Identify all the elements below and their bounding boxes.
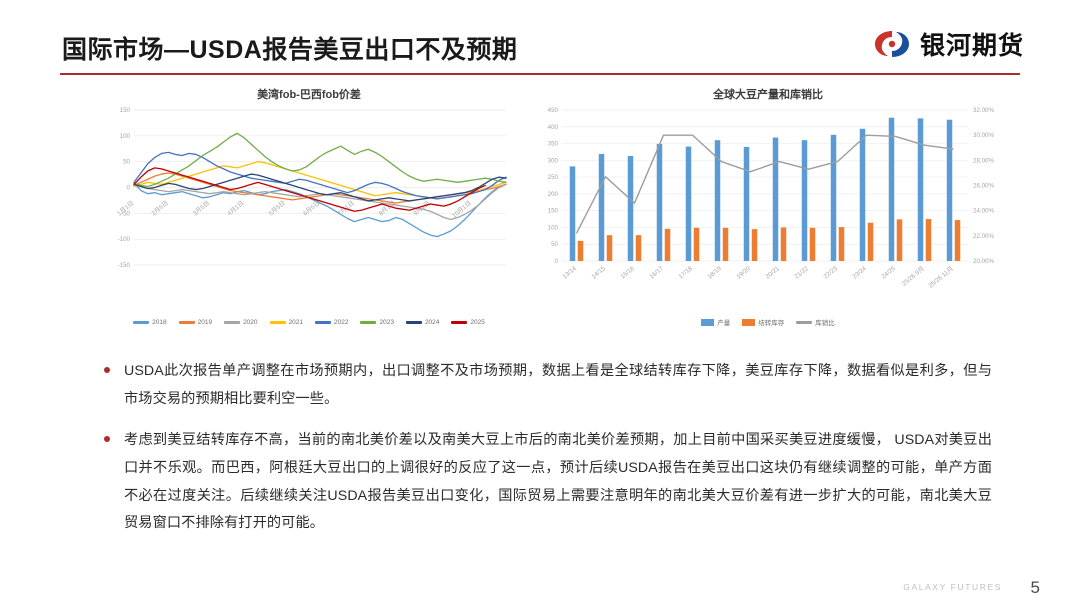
- bullet-item: 考虑到美豆结转库存不高，当前的南北美价差以及南美大豆上市后的南北美价差预期，加上…: [104, 427, 992, 538]
- bar-结转库存-24/25: [897, 219, 903, 261]
- legend-swatch: [742, 319, 755, 326]
- bar-产量-21/22: [802, 140, 808, 261]
- bar-结转库存-22/23: [839, 227, 845, 261]
- legend-item-结转库存: 结转库存: [742, 317, 784, 327]
- legend-label: 2022: [334, 319, 348, 326]
- legend-swatch: [270, 321, 286, 324]
- legend-label: 产量: [717, 317, 730, 327]
- legend-item-2021: 2021: [270, 319, 303, 326]
- slide: 国际市场—USDA报告美豆出口不及预期 银河期货 美湾fob-巴西fob价差 1…: [0, 0, 1080, 608]
- bar-产量-23/24: [860, 129, 866, 261]
- y2-axis-tick-label: 28.00%: [973, 157, 994, 164]
- chart-left-legend: 20182019202020212022202320242025: [104, 313, 514, 331]
- x-axis-tick-label: 13/14: [561, 265, 578, 281]
- legend-item-2024: 2024: [406, 319, 439, 326]
- legend-swatch: [179, 321, 195, 324]
- chart-price-spread: 美湾fob-巴西fob价差 150100500-50-100-1501月1日2月…: [104, 86, 514, 351]
- legend-item-2025: 2025: [451, 319, 484, 326]
- legend-swatch: [315, 321, 331, 324]
- bar-产量-17/18: [686, 147, 692, 261]
- y-axis-tick-label: 100: [120, 133, 131, 140]
- legend-item-2020: 2020: [224, 319, 257, 326]
- legend-label: 2021: [289, 319, 303, 326]
- bar-结转库存-20/21: [781, 227, 787, 261]
- bar-结转库存-15/16: [636, 235, 642, 261]
- y2-axis-tick-label: 20.00%: [973, 258, 994, 265]
- legend-item-2022: 2022: [315, 319, 348, 326]
- x-axis-tick-label: 4月1日: [226, 200, 245, 218]
- y-axis-tick-label: 50: [123, 159, 130, 166]
- bar-产量-13/14: [570, 166, 576, 261]
- legend-label: 结转库存: [758, 317, 784, 327]
- legend-item-2023: 2023: [360, 319, 393, 326]
- x-axis-tick-label: 16/17: [648, 265, 665, 281]
- y2-axis-tick-label: 26.00%: [973, 183, 994, 190]
- x-axis-tick-label: 23/24: [851, 265, 868, 281]
- brand-name: 银河期货: [920, 26, 1024, 62]
- bar-产量-25/26 9月: [918, 118, 924, 261]
- line-chart-svg: 150100500-50-100-1501月1日2月5日3月5日4月1日5月5日…: [104, 104, 514, 309]
- y-axis-tick-label: -100: [118, 236, 131, 243]
- y-axis-tick-label: 150: [548, 208, 559, 215]
- bar-产量-19/20: [744, 147, 750, 261]
- x-axis-tick-label: 15/16: [619, 265, 636, 281]
- bar-产量-22/23: [831, 135, 837, 261]
- x-axis-tick-label: 25/26 11月: [927, 265, 954, 290]
- legend-swatch: [224, 321, 240, 324]
- slide-header: 国际市场—USDA报告美豆出口不及预期 银河期货: [0, 0, 1080, 76]
- legend-label: 2020: [243, 319, 257, 326]
- header-divider: [60, 73, 1020, 75]
- x-axis-tick-label: 3月5日: [192, 200, 211, 218]
- y-axis-tick-label: 150: [120, 107, 131, 114]
- chart-global-soybean: 全球大豆产量和库销比 05010015020025030035040045020…: [528, 86, 1008, 351]
- y-axis-tick-label: 400: [548, 124, 559, 131]
- y-axis-tick-label: 350: [548, 141, 559, 148]
- y2-axis-tick-label: 32.00%: [973, 107, 994, 114]
- bar-结转库存-18/19: [723, 228, 729, 261]
- y-axis-tick-label: 450: [548, 107, 559, 114]
- bar-结转库存-25/26 9月: [926, 219, 932, 261]
- legend-item-2018: 2018: [133, 319, 166, 326]
- x-axis-tick-label: 24/25: [880, 265, 897, 281]
- x-axis-tick-label: 18/19: [706, 265, 723, 281]
- legend-label: 2025: [470, 319, 484, 326]
- bullet-dot-icon: [104, 367, 110, 373]
- y-axis-tick-label: 0: [127, 185, 131, 192]
- bar-产量-25/26 11月: [947, 120, 953, 261]
- bar-结转库存-17/18: [694, 228, 700, 261]
- legend-label: 2019: [198, 319, 212, 326]
- x-axis-tick-label: 21/22: [793, 265, 810, 281]
- legend-label: 2024: [425, 319, 439, 326]
- y-axis-tick-label: 300: [548, 157, 559, 164]
- legend-swatch: [406, 321, 422, 324]
- bar-产量-16/17: [657, 144, 663, 261]
- x-axis-tick-label: 20/21: [764, 265, 781, 281]
- y2-axis-tick-label: 22.00%: [973, 233, 994, 240]
- galaxy-swirl-icon: [873, 29, 911, 59]
- brand-logo: 银河期货: [873, 26, 1024, 62]
- chart-right-plot: 05010015020025030035040045020.00%22.00%2…: [528, 104, 1008, 309]
- y-axis-tick-label: 0: [555, 258, 559, 265]
- footer-brand: GALAXY FUTURES: [903, 582, 1002, 592]
- y-axis-tick-label: 100: [548, 224, 559, 231]
- bullet-text: 考虑到美豆结转库存不高，当前的南北美价差以及南美大豆上市后的南北美价差预期，加上…: [124, 427, 992, 538]
- page-title: 国际市场—USDA报告美豆出口不及预期: [62, 30, 517, 66]
- legend-item-产量: 产量: [701, 317, 730, 327]
- bar-结转库存-14/15: [607, 235, 613, 261]
- bar-结转库存-13/14: [578, 241, 584, 261]
- bar-产量-24/25: [889, 118, 895, 261]
- x-axis-tick-label: 5月5日: [268, 200, 287, 218]
- bar-chart-svg: 05010015020025030035040045020.00%22.00%2…: [528, 104, 1008, 309]
- bar-产量-14/15: [599, 154, 605, 261]
- bullet-dot-icon: [104, 436, 110, 442]
- y2-axis-tick-label: 24.00%: [973, 208, 994, 215]
- y-axis-tick-label: 200: [548, 191, 559, 198]
- charts-region: 美湾fob-巴西fob价差 150100500-50-100-1501月1日2月…: [0, 86, 1080, 351]
- legend-label: 2018: [152, 319, 166, 326]
- chart-right-title: 全球大豆产量和库销比: [528, 86, 1008, 104]
- content-bullets: USDA此次报告单产调整在市场预期内，出口调整不及市场预期，数据上看是全球结转库…: [104, 358, 992, 552]
- bullet-item: USDA此次报告单产调整在市场预期内，出口调整不及市场预期，数据上看是全球结转库…: [104, 358, 992, 413]
- bar-结转库存-25/26 11月: [955, 220, 961, 261]
- chart-left-plot: 150100500-50-100-1501月1日2月5日3月5日4月1日5月5日…: [104, 104, 514, 309]
- legend-label: 2023: [379, 319, 393, 326]
- x-axis-tick-label: 22/23: [822, 265, 839, 281]
- x-axis-tick-label: 2月5日: [150, 200, 169, 218]
- legend-item-库销比: 库销比: [796, 317, 835, 327]
- bullet-text: USDA此次报告单产调整在市场预期内，出口调整不及市场预期，数据上看是全球结转库…: [124, 358, 992, 413]
- legend-label: 库销比: [815, 317, 835, 327]
- y-axis-tick-label: -150: [118, 262, 131, 269]
- page-number: 5: [1031, 578, 1040, 598]
- chart-right-legend: 产量结转库存库销比: [528, 313, 1008, 331]
- y-axis-tick-label: 250: [548, 174, 559, 181]
- legend-swatch: [451, 321, 467, 324]
- bar-结转库存-21/22: [810, 228, 816, 261]
- legend-swatch: [701, 319, 714, 326]
- x-axis-tick-label: 19/20: [735, 265, 752, 281]
- bar-结转库存-23/24: [868, 223, 874, 261]
- bar-产量-20/21: [773, 138, 779, 261]
- bar-产量-15/16: [628, 156, 634, 261]
- x-axis-tick-label: 25/26 9月: [901, 265, 926, 288]
- x-axis-tick-label: 17/18: [677, 265, 694, 281]
- y-axis-tick-label: 50: [551, 241, 558, 248]
- legend-swatch: [360, 321, 376, 324]
- chart-left-title: 美湾fob-巴西fob价差: [104, 86, 514, 104]
- y2-axis-tick-label: 30.00%: [973, 132, 994, 139]
- legend-item-2019: 2019: [179, 319, 212, 326]
- legend-swatch: [796, 321, 812, 324]
- legend-swatch: [133, 321, 149, 324]
- bar-结转库存-16/17: [665, 229, 671, 261]
- x-axis-tick-label: 14/15: [590, 265, 607, 281]
- bar-结转库存-19/20: [752, 229, 758, 261]
